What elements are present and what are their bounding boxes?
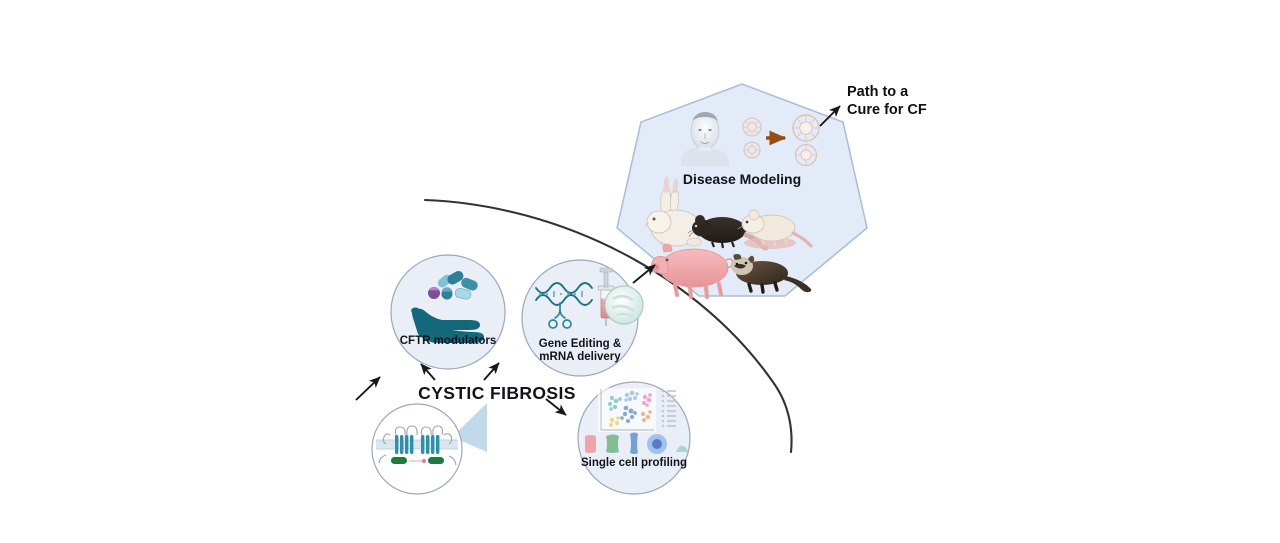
cystic-fibrosis-label: CYSTIC FIBROSIS bbox=[418, 383, 576, 403]
arrow-cftr-to-cf bbox=[356, 377, 380, 400]
gene-editing-label-line2: mRNA delivery bbox=[539, 351, 621, 363]
path-to-cure-label-line2: Cure for CF bbox=[847, 102, 927, 118]
disease-modeling-label: Disease Modeling bbox=[683, 171, 801, 187]
path-to-cure-label-line1: Path to a bbox=[847, 84, 909, 100]
graphical-abstract-canvas: Disease Modeling bbox=[0, 0, 1280, 543]
gene-editing-label-line1: Gene Editing & bbox=[539, 338, 621, 350]
cftr-modulators-circle bbox=[391, 255, 505, 369]
arrow-cf-to-gene bbox=[484, 363, 499, 380]
lipid-nanoparticle-icon bbox=[605, 286, 643, 324]
node-cftr-protein[interactable] bbox=[372, 403, 487, 494]
figure-svg: Disease Modeling bbox=[0, 0, 1280, 543]
arrow-to-disease-model bbox=[633, 265, 655, 283]
cftr-modulators-label: CFTR modulators bbox=[400, 335, 496, 347]
single-cell-label: Single cell profiling bbox=[581, 457, 687, 469]
node-single-cell-profiling[interactable]: Single cell profiling bbox=[578, 382, 690, 494]
node-cftr-modulators[interactable]: CFTR modulators bbox=[391, 255, 505, 369]
node-gene-editing[interactable]: Gene Editing & mRNA delivery bbox=[522, 260, 643, 376]
